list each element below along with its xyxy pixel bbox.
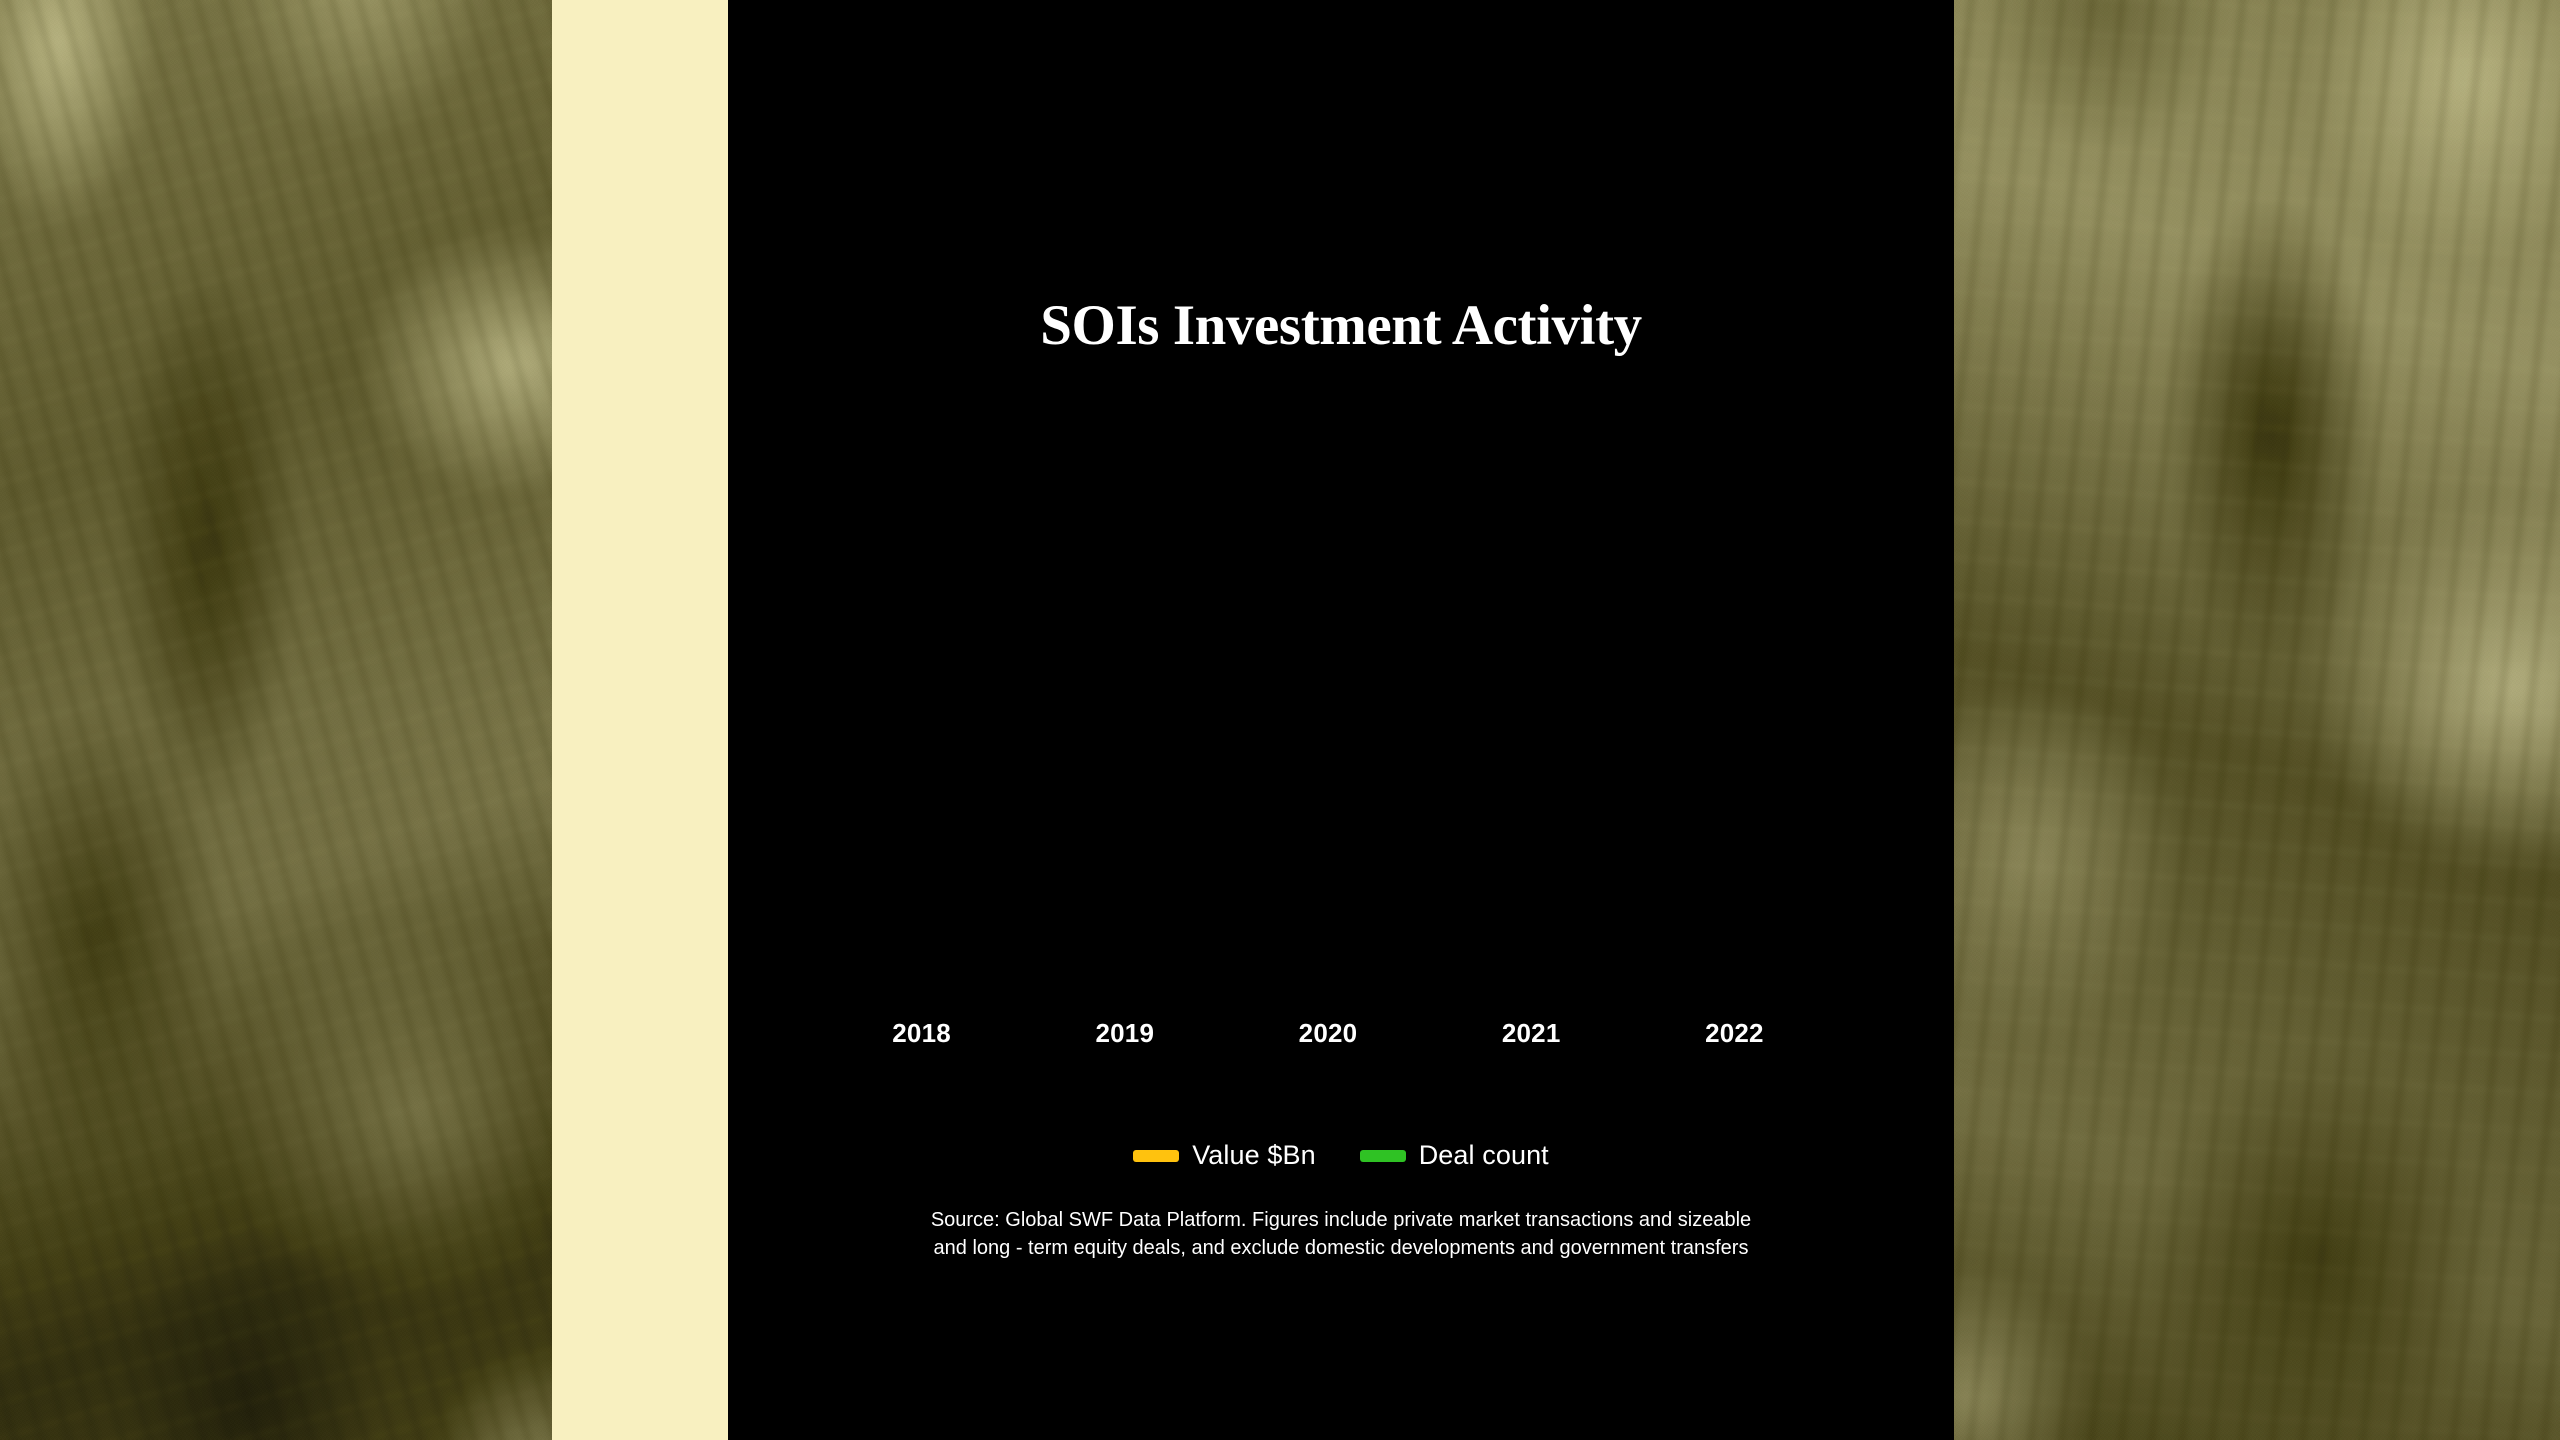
x-axis-label-2021: 2021 (1471, 1018, 1591, 1049)
x-axis-label-2022: 2022 (1674, 1018, 1794, 1049)
source-note-line-2: and long - term equity deals, and exclud… (841, 1234, 1841, 1262)
slide-canvas: SOIs Investment Activity 201820192020202… (0, 0, 2560, 1440)
x-axis-label-2019: 2019 (1065, 1018, 1185, 1049)
legend-label: Value $Bn (1192, 1140, 1316, 1171)
source-note: Source: Global SWF Data Platform. Figure… (841, 1206, 1841, 1263)
chart-x-axis: 20182019202020212022 (820, 1018, 1836, 1062)
chart-slide: SOIs Investment Activity 201820192020202… (728, 0, 1954, 1440)
legend-swatch-icon (1360, 1150, 1406, 1162)
x-axis-label-2018: 2018 (862, 1018, 982, 1049)
legend-item-2[interactable]: Deal count (1360, 1140, 1549, 1171)
legend-item-1[interactable]: Value $Bn (1133, 1140, 1316, 1171)
legend-label: Deal count (1419, 1140, 1549, 1171)
source-note-line-1: Source: Global SWF Data Platform. Figure… (841, 1206, 1841, 1234)
right-decorative-photo (1954, 0, 2560, 1440)
chart-legend: Value $BnDeal count (728, 1140, 1954, 1171)
legend-swatch-icon (1133, 1150, 1179, 1162)
page-title: SOIs Investment Activity (728, 296, 1954, 356)
right-photo-grain (1954, 0, 2560, 1440)
chart-plot-area (820, 400, 1880, 1010)
cream-divider-strip (552, 0, 728, 1440)
left-decorative-photo (0, 0, 552, 1440)
x-axis-label-2020: 2020 (1268, 1018, 1388, 1049)
left-photo-grain (0, 0, 552, 1440)
